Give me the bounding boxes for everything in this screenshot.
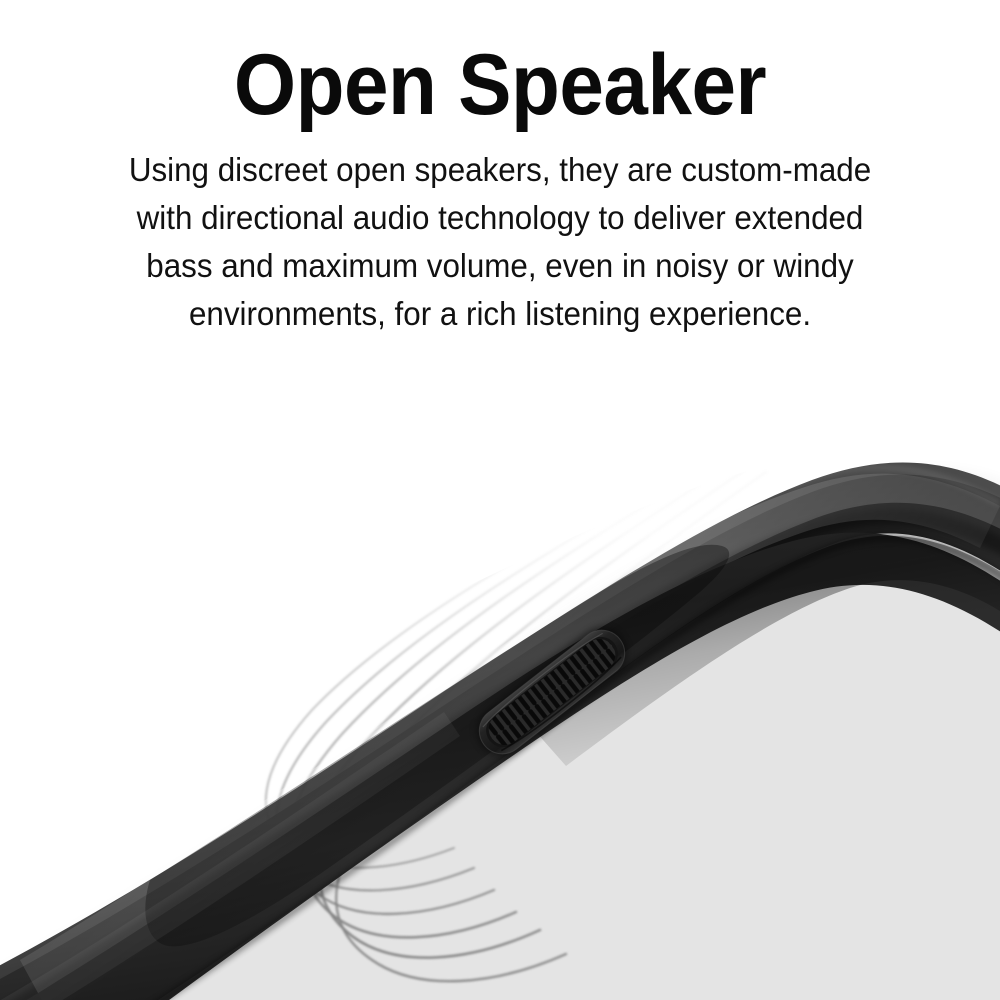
feature-text-block: Open Speaker Using discreet open speaker…: [0, 0, 1000, 338]
page-title: Open Speaker: [35, 0, 965, 128]
description-line-3: bass and maximum volume, even in noisy o…: [25, 242, 975, 290]
description-line-4: environments, for a rich listening exper…: [25, 290, 975, 338]
description-line-2: with directional audio technology to del…: [25, 194, 975, 242]
description-line-1: Using discreet open speakers, they are c…: [25, 146, 975, 194]
page-description: Using discreet open speakers, they are c…: [25, 128, 975, 338]
product-feature-page: Open Speaker Using discreet open speaker…: [0, 0, 1000, 1000]
